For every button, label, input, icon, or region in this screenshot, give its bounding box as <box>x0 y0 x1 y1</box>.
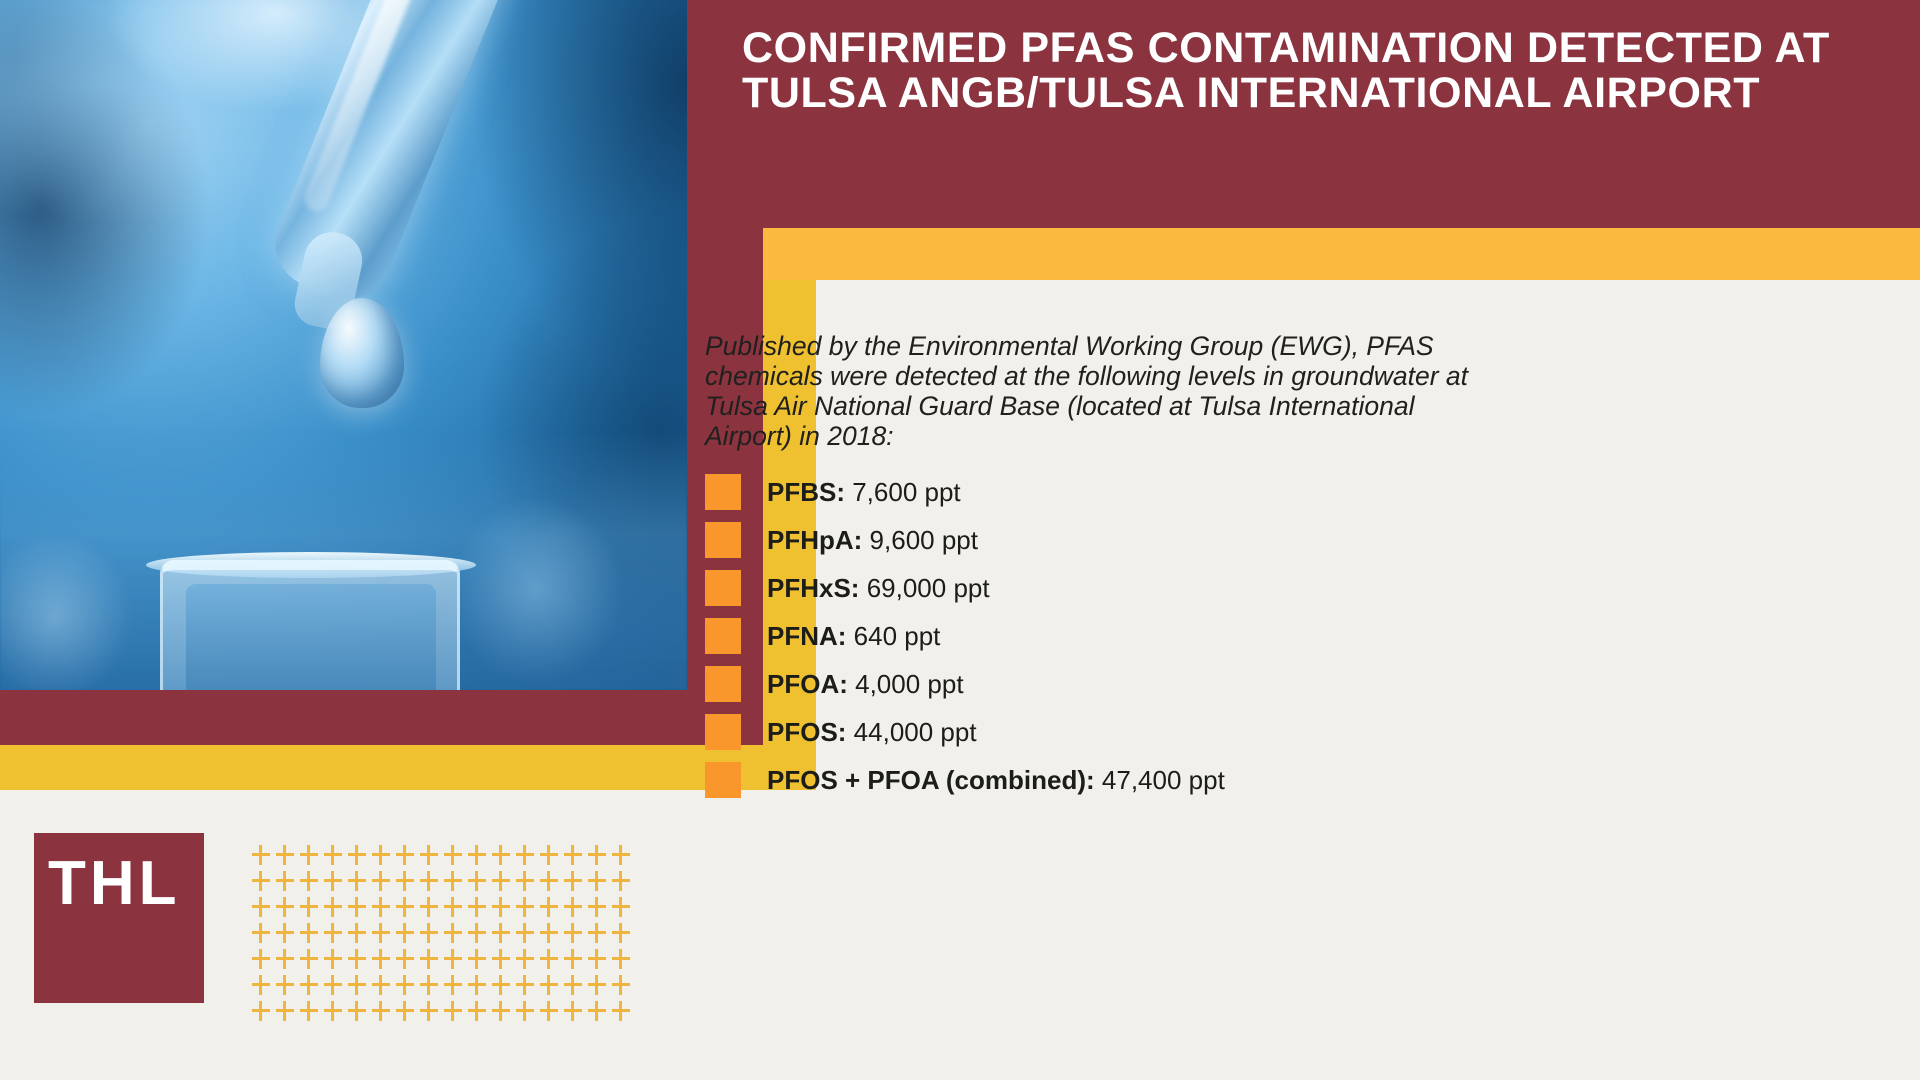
plus-icon <box>396 871 420 897</box>
plus-icon <box>348 871 372 897</box>
bullet-square-icon <box>705 666 741 702</box>
thl-logo-text: THL <box>34 833 204 915</box>
plus-icon <box>252 1001 276 1027</box>
plus-icon <box>492 975 516 1001</box>
header-banner: CONFIRMED PFAS CONTAMINATION DETECTED AT… <box>710 0 1920 228</box>
plus-icon <box>540 975 564 1001</box>
plus-icon <box>540 845 564 871</box>
plus-icon <box>324 1001 348 1027</box>
intro-paragraph: Published by the Environmental Working G… <box>705 332 1495 452</box>
plus-icon <box>420 1001 444 1027</box>
reading-text: PFHxS: 69,000 ppt <box>767 573 990 604</box>
plus-icon <box>468 949 492 975</box>
left-column: THL <box>0 0 816 1080</box>
reading-label: PFHxS: <box>767 573 859 603</box>
plus-icon <box>300 975 324 1001</box>
plus-icon <box>540 871 564 897</box>
plus-icon <box>564 949 588 975</box>
plus-icon <box>300 923 324 949</box>
plus-icon <box>396 897 420 923</box>
plus-icon <box>324 871 348 897</box>
plus-icon <box>588 975 612 1001</box>
plus-icon <box>276 949 300 975</box>
plus-icon <box>516 923 540 949</box>
plus-icon <box>588 897 612 923</box>
plus-icon <box>372 897 396 923</box>
plus-icon <box>588 871 612 897</box>
plus-icon <box>588 845 612 871</box>
plus-icon <box>420 975 444 1001</box>
plus-icon <box>252 975 276 1001</box>
plus-icon <box>252 871 276 897</box>
laboratory-pipette-photo <box>0 0 687 690</box>
reading-text: PFOA: 4,000 ppt <box>767 669 964 700</box>
plus-icon <box>540 897 564 923</box>
plus-icon <box>300 897 324 923</box>
plus-icon <box>468 871 492 897</box>
reading-text: PFNA: 640 ppt <box>767 621 940 652</box>
plus-icon <box>564 897 588 923</box>
list-item: PFOS + PFOA (combined): 47,400 ppt <box>705 756 1845 804</box>
plus-icon <box>396 949 420 975</box>
plus-icon <box>612 949 636 975</box>
reading-text: PFOS: 44,000 ppt <box>767 717 977 748</box>
plus-icon <box>444 949 468 975</box>
plus-icon <box>588 1001 612 1027</box>
plus-icon <box>372 1001 396 1027</box>
plus-icon <box>396 975 420 1001</box>
plus-icon <box>300 949 324 975</box>
plus-icon <box>372 949 396 975</box>
plus-icon <box>468 975 492 1001</box>
plus-icon <box>252 897 276 923</box>
plus-icon <box>420 923 444 949</box>
plus-icon <box>420 871 444 897</box>
plus-icon <box>492 949 516 975</box>
plus-icon <box>444 897 468 923</box>
plus-icon <box>396 1001 420 1027</box>
plus-icon <box>612 845 636 871</box>
plus-icon <box>612 1001 636 1027</box>
plus-icon <box>324 845 348 871</box>
plus-icon <box>564 845 588 871</box>
beaker-liquid <box>186 584 436 690</box>
plus-icon <box>492 897 516 923</box>
plus-icon <box>444 845 468 871</box>
reading-label: PFOS: <box>767 717 846 747</box>
reading-value: 7,600 ppt <box>845 477 961 507</box>
plus-icon <box>492 845 516 871</box>
plus-icon <box>516 975 540 1001</box>
list-item: PFHpA: 9,600 ppt <box>705 516 1845 564</box>
plus-icon <box>324 975 348 1001</box>
plus-icon <box>276 871 300 897</box>
reading-label: PFHpA: <box>767 525 862 555</box>
plus-icon <box>372 975 396 1001</box>
plus-icon <box>348 897 372 923</box>
list-item: PFBS: 7,600 ppt <box>705 468 1845 516</box>
plus-icon <box>300 845 324 871</box>
plus-icon <box>276 923 300 949</box>
reading-text: PFHpA: 9,600 ppt <box>767 525 978 556</box>
plus-icon <box>372 871 396 897</box>
plus-icon <box>540 923 564 949</box>
plus-icon <box>588 923 612 949</box>
plus-icon <box>564 1001 588 1027</box>
plus-icon <box>324 949 348 975</box>
plus-icon <box>516 871 540 897</box>
plus-icon <box>612 897 636 923</box>
plus-icon <box>276 845 300 871</box>
reading-value: 44,000 ppt <box>846 717 976 747</box>
plus-icon <box>276 897 300 923</box>
plus-icon <box>612 923 636 949</box>
plus-icon <box>516 845 540 871</box>
plus-icon <box>564 975 588 1001</box>
reading-value: 4,000 ppt <box>848 669 964 699</box>
plus-icon <box>612 871 636 897</box>
plus-icon <box>252 923 276 949</box>
plus-icon <box>324 923 348 949</box>
plus-icon <box>348 923 372 949</box>
bullet-square-icon <box>705 714 741 750</box>
plus-icon <box>276 1001 300 1027</box>
plus-icon <box>516 1001 540 1027</box>
reading-label: PFOA: <box>767 669 848 699</box>
plus-icon <box>372 923 396 949</box>
list-item: PFNA: 640 ppt <box>705 612 1845 660</box>
reading-text: PFBS: 7,600 ppt <box>767 477 961 508</box>
plus-icon <box>468 923 492 949</box>
plus-icon <box>276 975 300 1001</box>
reading-value: 640 ppt <box>846 621 940 651</box>
reading-label: PFNA: <box>767 621 846 651</box>
plus-icon <box>444 871 468 897</box>
plus-icon <box>540 949 564 975</box>
plus-icon <box>252 845 276 871</box>
plus-icon <box>468 1001 492 1027</box>
plus-icon <box>492 871 516 897</box>
plus-icon <box>348 949 372 975</box>
plus-icon <box>564 923 588 949</box>
plus-icon <box>588 949 612 975</box>
plus-icon <box>420 949 444 975</box>
plus-icon <box>516 897 540 923</box>
thl-logo: THL <box>34 833 204 1003</box>
plus-icon <box>396 845 420 871</box>
plus-icon <box>420 897 444 923</box>
reading-value: 9,600 ppt <box>862 525 978 555</box>
plus-icon <box>516 949 540 975</box>
plus-icon <box>444 923 468 949</box>
plus-icon <box>348 1001 372 1027</box>
plus-icon <box>540 1001 564 1027</box>
bullet-square-icon <box>705 618 741 654</box>
plus-icon <box>348 975 372 1001</box>
plus-icon <box>564 871 588 897</box>
plus-icon <box>396 923 420 949</box>
plus-icon <box>348 845 372 871</box>
plus-icon <box>468 845 492 871</box>
plus-sign-pattern <box>252 845 636 1027</box>
reading-value: 69,000 ppt <box>859 573 989 603</box>
bullet-square-icon <box>705 474 741 510</box>
plus-icon <box>372 845 396 871</box>
plus-icon <box>444 975 468 1001</box>
plus-icon <box>300 1001 324 1027</box>
reading-value: 47,400 ppt <box>1095 765 1225 795</box>
page-title: CONFIRMED PFAS CONTAMINATION DETECTED AT… <box>742 26 1886 115</box>
list-item: PFOS: 44,000 ppt <box>705 708 1845 756</box>
bullet-square-icon <box>705 762 741 798</box>
plus-icon <box>492 923 516 949</box>
list-item: PFHxS: 69,000 ppt <box>705 564 1845 612</box>
reading-label: PFBS: <box>767 477 845 507</box>
pfas-readings-list: PFBS: 7,600 pptPFHpA: 9,600 pptPFHxS: 69… <box>705 468 1845 804</box>
list-item: PFOA: 4,000 ppt <box>705 660 1845 708</box>
bullet-square-icon <box>705 522 741 558</box>
reading-label: PFOS + PFOA (combined): <box>767 765 1095 795</box>
header-accent-bar <box>763 228 1920 280</box>
plus-icon <box>492 1001 516 1027</box>
plus-icon <box>420 845 444 871</box>
plus-icon <box>300 871 324 897</box>
plus-icon <box>324 897 348 923</box>
plus-icon <box>252 949 276 975</box>
plus-icon <box>444 1001 468 1027</box>
plus-icon <box>612 975 636 1001</box>
bullet-square-icon <box>705 570 741 606</box>
plus-icon <box>468 897 492 923</box>
reading-text: PFOS + PFOA (combined): 47,400 ppt <box>767 765 1225 796</box>
